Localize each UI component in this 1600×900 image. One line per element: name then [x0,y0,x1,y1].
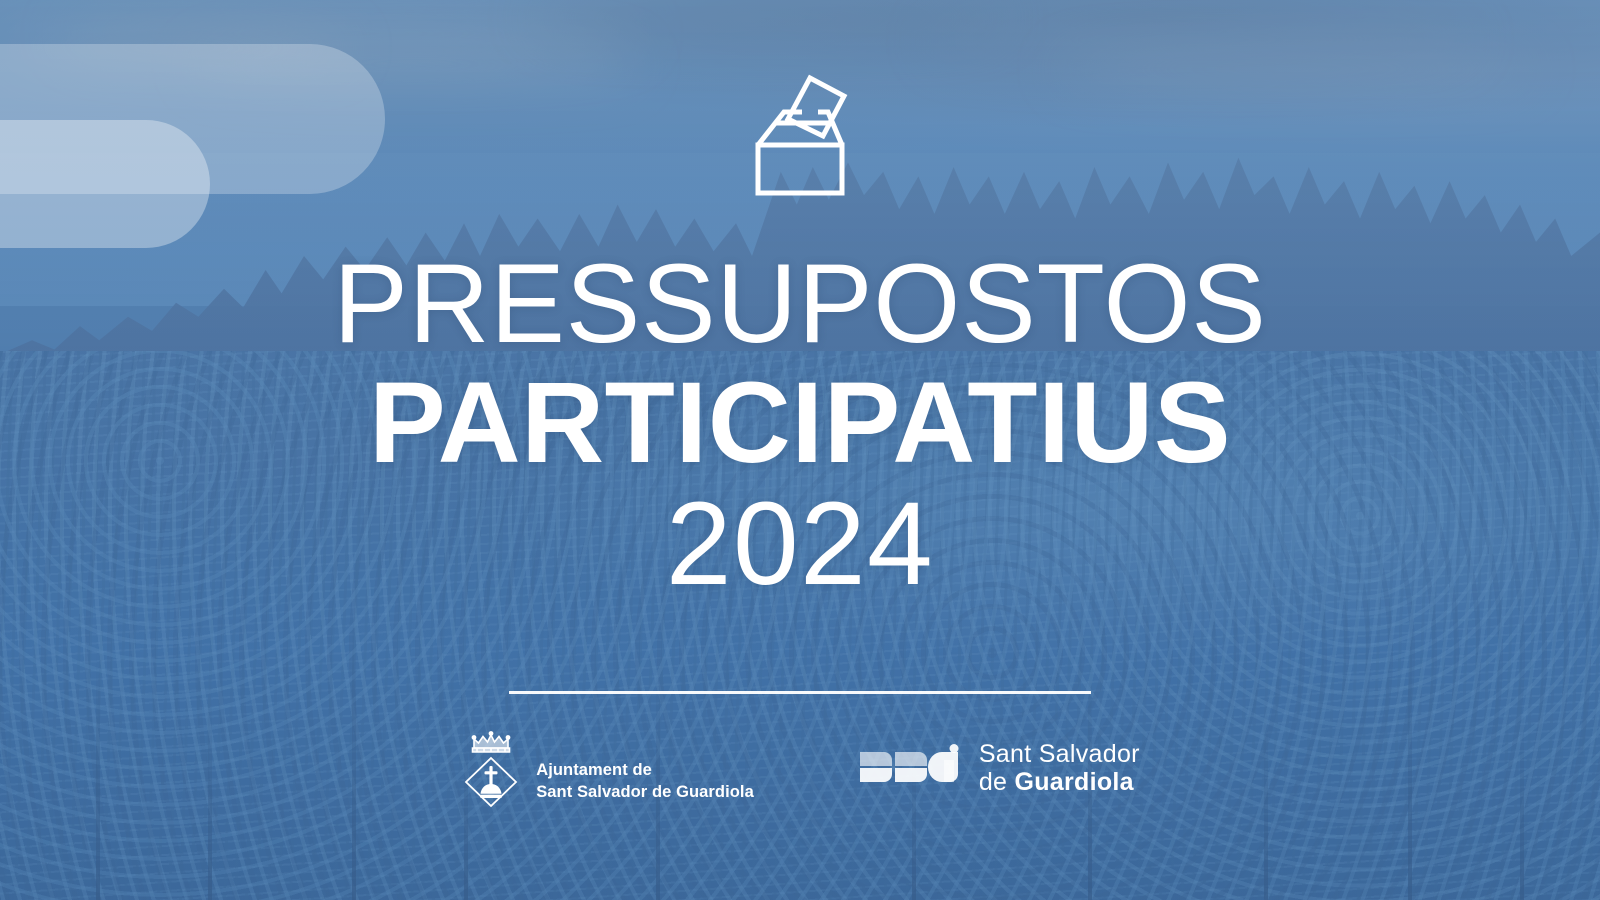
ssg-line-2: de Guardiola [979,768,1140,796]
page-title-line-2: PARTICIPATIUS [0,366,1600,481]
poster-title-block: PRESSUPOSTOS PARTICIPATIUS 2024 [0,248,1600,603]
poster-content: PRESSUPOSTOS PARTICIPATIUS 2024 [0,0,1600,900]
participatory-budget-poster: PRESSUPOSTOS PARTICIPATIUS 2024 [0,0,1600,900]
ssg-line-2-bold: Guardiola [1014,768,1133,796]
horizontal-divider [509,691,1091,694]
ssg-line-2-light: de [979,768,1015,796]
page-title-line-1: PRESSUPOSTOS [0,248,1600,360]
ballot-box-icon [744,66,856,196]
page-title-year: 2024 [0,485,1600,603]
ssg-monogram-svg [858,744,966,792]
ajuntament-logo-text: Ajuntament de Sant Salvador de Guardiola [536,760,754,810]
ssg-line-1: Sant Salvador [979,740,1140,768]
ssg-logo: Sant Salvador de Guardiola [858,740,1140,796]
ssg-monogram-icon [858,744,966,792]
ajuntament-line-1: Ajuntament de [536,760,754,782]
ajuntament-crest-icon [460,726,522,810]
ssg-logo-text: Sant Salvador de Guardiola [979,740,1140,796]
footer-logos: Ajuntament de Sant Salvador de Guardiola [0,726,1600,810]
ballot-box-icon-svg [744,66,856,196]
ajuntament-crest-svg [460,726,522,810]
ajuntament-logo: Ajuntament de Sant Salvador de Guardiola [460,726,754,810]
ajuntament-line-2: Sant Salvador de Guardiola [536,782,754,804]
